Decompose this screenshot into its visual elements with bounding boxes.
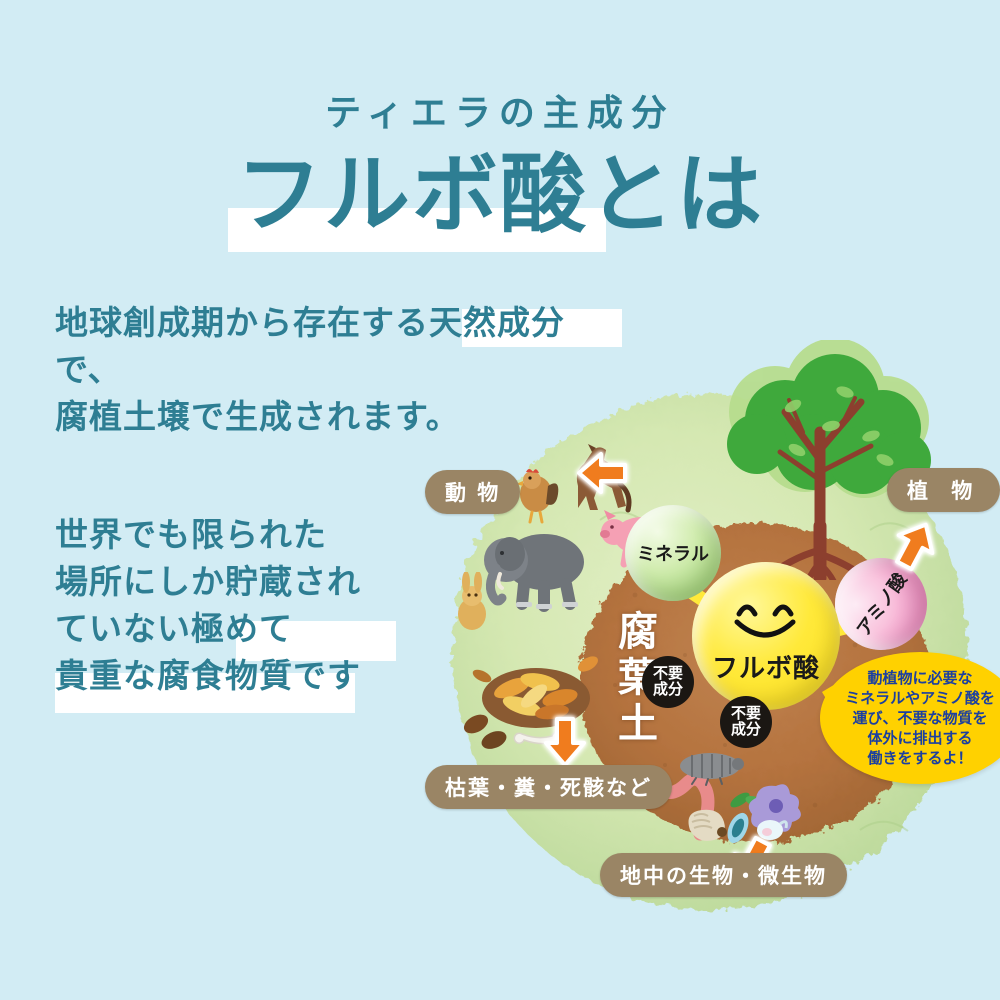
waste-marker-1: 不要 成分 <box>642 656 694 708</box>
elephant-illustration <box>478 522 596 612</box>
label-plants: 植 物 <box>887 468 1000 512</box>
soil-cycle-diagram: 腐葉土 ミネラル アミノ酸 フルボ酸 不要 成分 不要 成分 動植物に必要な ミ… <box>420 360 1000 940</box>
label-litter: 枯葉・糞・死骸など <box>425 765 672 809</box>
mineral-bubble-label: ミネラル <box>637 540 709 566</box>
explanation-balloon: 動植物に必要な ミネラルやアミノ酸を 運び、不要な物質を 体外に排出する 働きを… <box>820 652 1000 784</box>
smiley-face-icon <box>723 598 809 644</box>
waste-marker-2: 不要 成分 <box>720 696 772 748</box>
page-title: フルボ酸とは <box>0 150 1000 240</box>
label-animals: 動 物 <box>425 470 520 514</box>
mineral-bubble: ミネラル <box>625 505 721 601</box>
page-subtitle: ティエラの主成分 <box>0 84 1000 136</box>
infographic-canvas: ティエラの主成分 フルボ酸とは 地球創成期から存在する天然成分で、 腐植土壌で生… <box>0 0 1000 1000</box>
fulvic-acid-bubble-label: フルボ酸 <box>712 648 820 685</box>
amino-acid-bubble-label: アミノ酸 <box>850 567 912 641</box>
rabbit-illustration <box>450 572 494 632</box>
label-microbes: 地中の生物・微生物 <box>600 853 847 897</box>
